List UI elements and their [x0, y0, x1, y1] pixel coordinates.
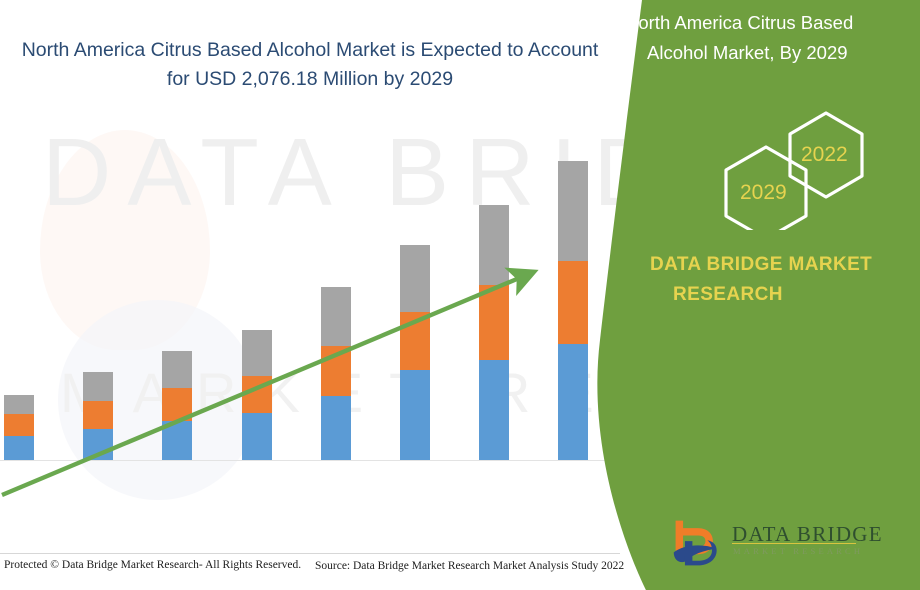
hex-badge-2029: 2029 [740, 181, 787, 205]
dbmr-logo: DATA BRIDGE MARKET RESEARCH [670, 512, 920, 574]
bar-segment-canada-2022[interactable] [4, 414, 34, 436]
bar-segment-mexico-2022[interactable] [4, 395, 34, 414]
hex-badge-2022: 2022 [801, 143, 848, 167]
copyright-text: Protected © Data Bridge Market Research-… [4, 559, 301, 571]
bar-column-2025[interactable] [242, 330, 272, 460]
bar-segment-us-2025[interactable] [242, 413, 272, 460]
x-axis-line [0, 460, 613, 461]
page-title-line-1: North America Citrus Based Alcohol Marke… [22, 39, 524, 61]
bar-segment-canada-2026[interactable] [321, 346, 351, 396]
bar-column-2022[interactable] [4, 395, 34, 460]
bar-column-2026[interactable] [321, 287, 351, 460]
bar-segment-us-2027[interactable] [400, 370, 430, 460]
bar-segment-mexico-2028[interactable] [479, 205, 509, 285]
bar-segment-mexico-2024[interactable] [162, 351, 192, 388]
bar-segment-mexico-2026[interactable] [321, 287, 351, 346]
panel-title: North America Citrus Based Alcohol Marke… [625, 8, 920, 68]
page-title: North America Citrus Based Alcohol Marke… [10, 36, 610, 94]
panel-brand-line-1: DATA BRIDGE MARKET [650, 254, 872, 275]
green-side-panel: North America Citrus Based Alcohol Marke… [580, 0, 920, 590]
panel-title-line-1: North America Citrus Based [625, 12, 853, 33]
panel-brand: DATA BRIDGE MARKET RESEARCH [650, 250, 920, 310]
bar-column-2027[interactable] [400, 245, 430, 460]
bar-segment-mexico-2027[interactable] [400, 245, 430, 312]
stacked-bar-chart: 20222023202420252026202720282029 U.SCana… [0, 120, 620, 465]
panel-brand-line-2: RESEARCH [650, 280, 920, 310]
source-text: Source: Data Bridge Market Research Mark… [315, 560, 624, 572]
bar-segment-canada-2025[interactable] [242, 376, 272, 413]
bar-segment-canada-2028[interactable] [479, 285, 509, 360]
bar-column-2028[interactable] [479, 205, 509, 460]
dbmr-logo-mark-icon [670, 516, 726, 570]
panel-title-line-2: Alcohol Market, By 2029 [625, 38, 920, 68]
hexagon-badges: 2022 2029 [630, 110, 920, 230]
bar-segment-canada-2027[interactable] [400, 312, 430, 370]
bar-segment-us-2023[interactable] [83, 429, 113, 460]
hexagon-outlines-icon [630, 110, 920, 230]
bar-segment-mexico-2025[interactable] [242, 330, 272, 376]
dbmr-logo-subtitle: MARKET RESEARCH [733, 546, 863, 556]
footer-divider [0, 553, 620, 554]
dbmr-logo-rule [732, 543, 856, 544]
bar-segment-canada-2024[interactable] [162, 388, 192, 421]
bar-segment-mexico-2023[interactable] [83, 372, 113, 401]
chart-plot-area [0, 120, 620, 461]
bar-segment-us-2028[interactable] [479, 360, 509, 460]
bar-segment-canada-2023[interactable] [83, 401, 113, 429]
infographic-canvas: DATA BRIDGE MARKET RESEARCH North Americ… [0, 0, 920, 590]
bar-segment-us-2024[interactable] [162, 421, 192, 460]
bar-column-2024[interactable] [162, 351, 192, 460]
bar-segment-us-2026[interactable] [321, 396, 351, 460]
bar-column-2023[interactable] [83, 372, 113, 460]
bar-segment-us-2022[interactable] [4, 436, 34, 460]
